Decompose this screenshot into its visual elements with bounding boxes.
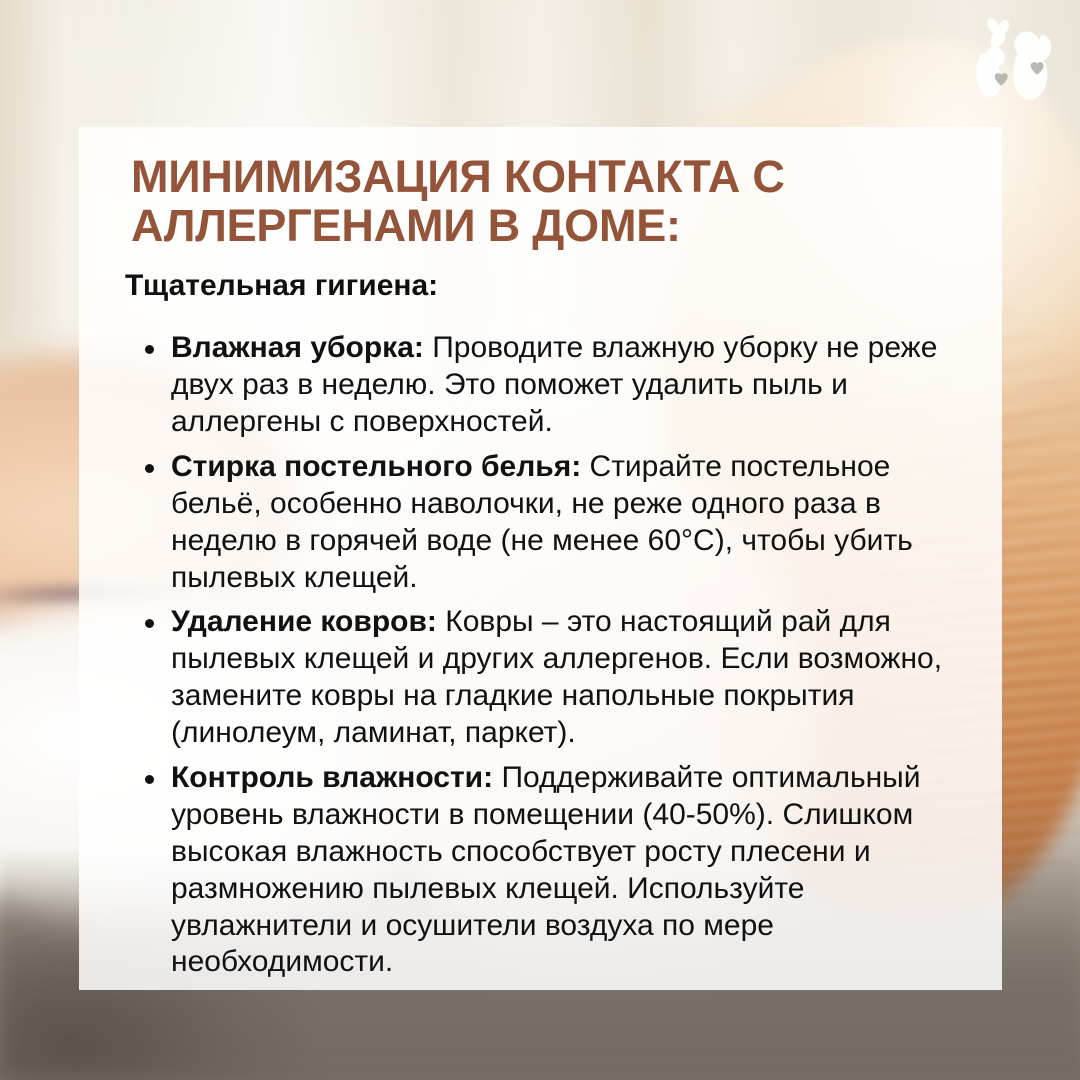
list-item: Удаление ковров: Ковры – это настоящий р… bbox=[139, 604, 966, 752]
section-subtitle: Тщательная гигиена: bbox=[125, 268, 976, 304]
content-panel: МИНИМИЗАЦИЯ КОНТАКТА С АЛЛЕРГЕНАМИ В ДОМ… bbox=[79, 127, 1002, 990]
tip-lead: Удаление ковров: bbox=[171, 605, 437, 638]
list-item: Стирка постельного белья: Стирайте посте… bbox=[139, 449, 966, 597]
tips-list: Влажная уборка: Проводите влажную уборку… bbox=[105, 330, 976, 981]
list-item: Контроль влажности: Поддерживайте оптима… bbox=[139, 760, 966, 981]
tip-lead: Влажная уборка: bbox=[171, 331, 424, 364]
tip-lead: Контроль влажности: bbox=[171, 761, 493, 794]
family-care-logo-icon bbox=[970, 14, 1062, 106]
tip-lead: Стирка постельного белья: bbox=[171, 450, 581, 483]
page-title: МИНИМИЗАЦИЯ КОНТАКТА С АЛЛЕРГЕНАМИ В ДОМ… bbox=[131, 153, 976, 250]
list-item: Влажная уборка: Проводите влажную уборку… bbox=[139, 330, 966, 441]
poster-canvas: МИНИМИЗАЦИЯ КОНТАКТА С АЛЛЕРГЕНАМИ В ДОМ… bbox=[0, 0, 1080, 1080]
